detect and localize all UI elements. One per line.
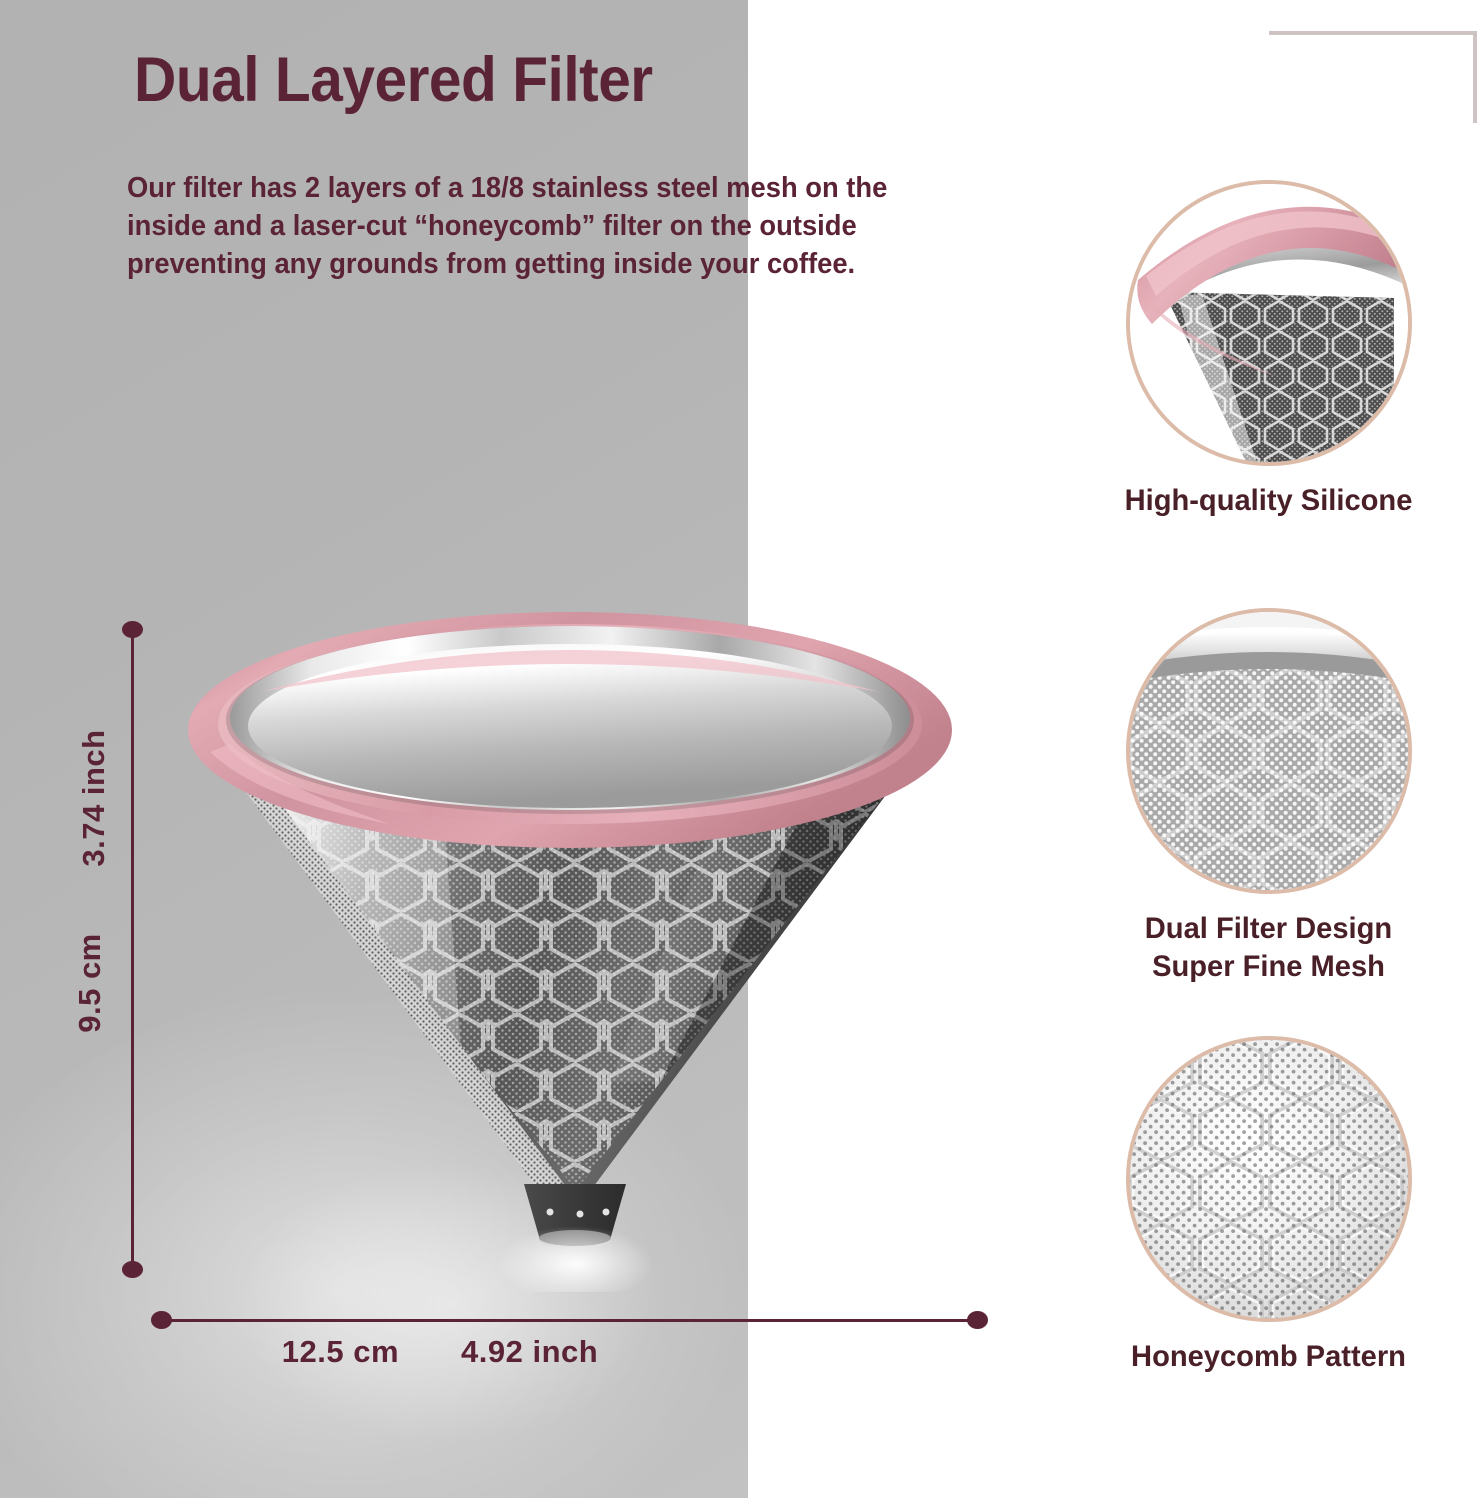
width-label-cm: 12.5 cm [282,1334,399,1370]
feature-image-silicone [1126,180,1412,466]
width-dimension-dot-right [967,1311,988,1329]
feature-item-dual-filter: Dual Filter Design Super Fine Mesh [1060,608,1477,986]
feature-label-dual-filter: Dual Filter Design Super Fine Mesh [1066,910,1470,986]
width-label-inch: 4.92 inch [461,1334,598,1370]
description-line-2: inside and a laser-cut “honeycomb” filte… [127,207,924,245]
feature-label-silicone: High-quality Silicone [1066,482,1470,520]
width-dimension-dot-left [151,1311,172,1329]
feature-image-honeycomb [1126,1036,1412,1322]
description-line-3: preventing any grounds from getting insi… [127,245,924,283]
description-line-1: Our filter has 2 layers of a 18/8 stainl… [127,169,924,207]
height-label-inch: 3.74 inch [76,698,112,898]
height-dimension-dot-top [122,621,143,638]
height-dimension-line [131,630,134,1270]
height-dimension-dot-bottom [122,1261,143,1278]
feature-label-honeycomb: Honeycomb Pattern [1066,1338,1470,1376]
silicone-rim [188,612,952,848]
feature-item-silicone: High-quality Silicone [1060,180,1477,520]
feature-item-honeycomb: Honeycomb Pattern [1060,1036,1477,1376]
product-image-cone-filter [140,612,1000,1292]
width-label-group: 12.5 cm 4.92 inch [160,1334,720,1370]
description-paragraph: Our filter has 2 layers of a 18/8 stainl… [127,169,924,283]
width-dimension-line [160,1319,980,1322]
feature-callout-column: High-quality Silicone [1060,0,1477,1500]
page-title: Dual Layered Filter [134,44,653,116]
height-label-cm: 9.5 cm [72,883,108,1083]
feature-image-dual-filter [1126,608,1412,894]
